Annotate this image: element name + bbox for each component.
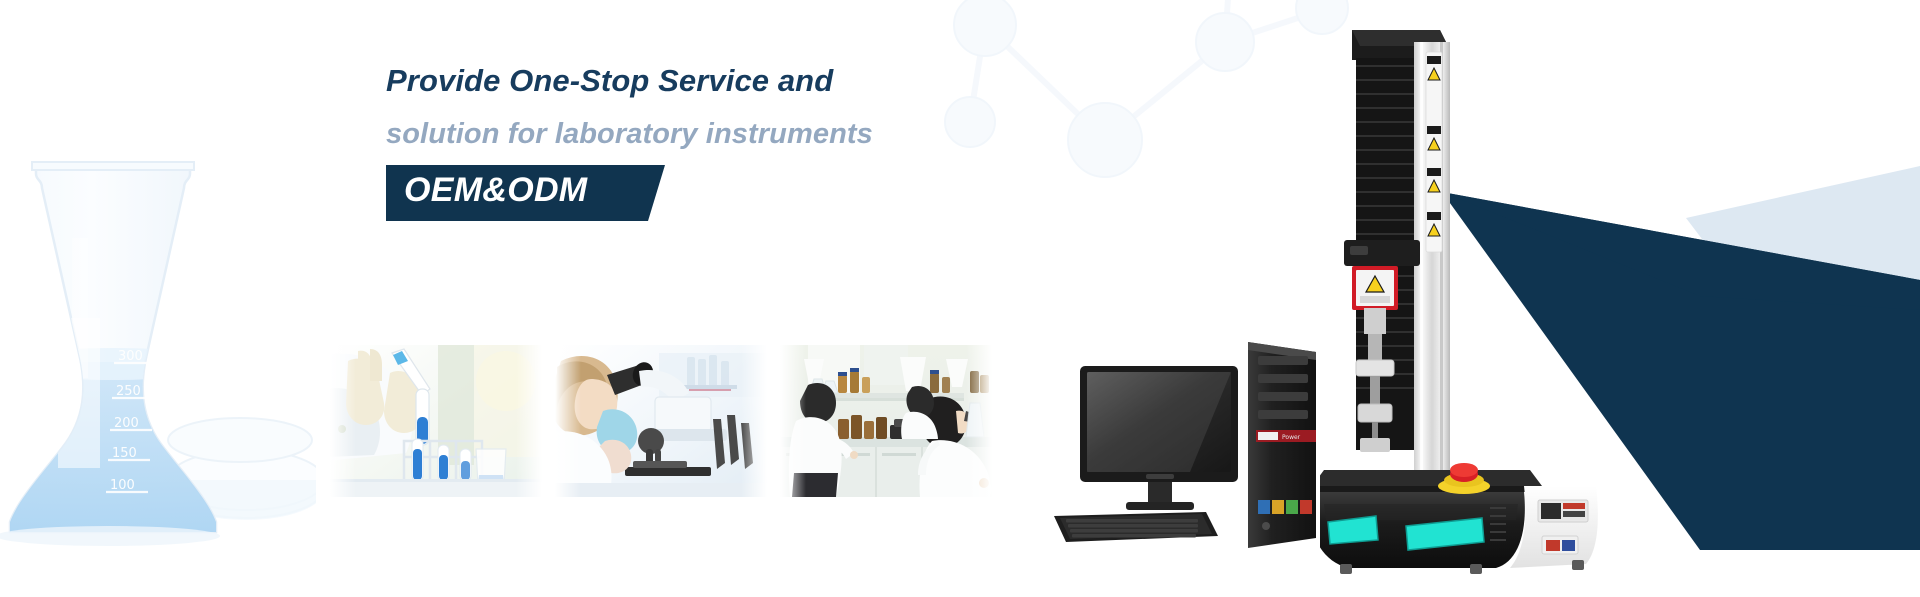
oem-odm-tag: OEM&ODM [386,165,676,221]
hero-banner: 300 250 200 150 100 Provide One-Stop Ser… [0,0,1920,597]
svg-text:250: 250 [116,384,141,399]
svg-text:100: 100 [110,478,135,493]
oem-odm-tag-label: OEM&ODM [404,171,587,210]
page-subtitle: solution for laboratory instruments [386,116,1026,154]
headline-block: Provide One-Stop Service and solution fo… [386,60,1026,221]
photo-pipetting [330,345,542,497]
svg-text:Power: Power [1282,434,1301,441]
photo-microscope [555,345,767,497]
page-title: Provide One-Stop Service and [386,60,1026,102]
photo-lab-bench [780,345,992,497]
photo-fade-left [780,345,806,497]
svg-text:200: 200 [114,416,139,431]
photo-fade-left [555,345,581,497]
svg-text:150: 150 [112,446,137,461]
desktop-computer-illustration: Power [1030,330,1320,560]
photo-fade-left [330,345,356,497]
universal-testing-machine-illustration [1320,8,1620,593]
erlenmeyer-flask-illustration: 300 250 200 150 100 [0,118,316,548]
photo-strip [330,345,992,497]
photo-fade-right [741,345,767,497]
photo-fade-right [966,345,992,497]
photo-fade-right [516,345,542,497]
svg-text:300: 300 [118,349,143,364]
